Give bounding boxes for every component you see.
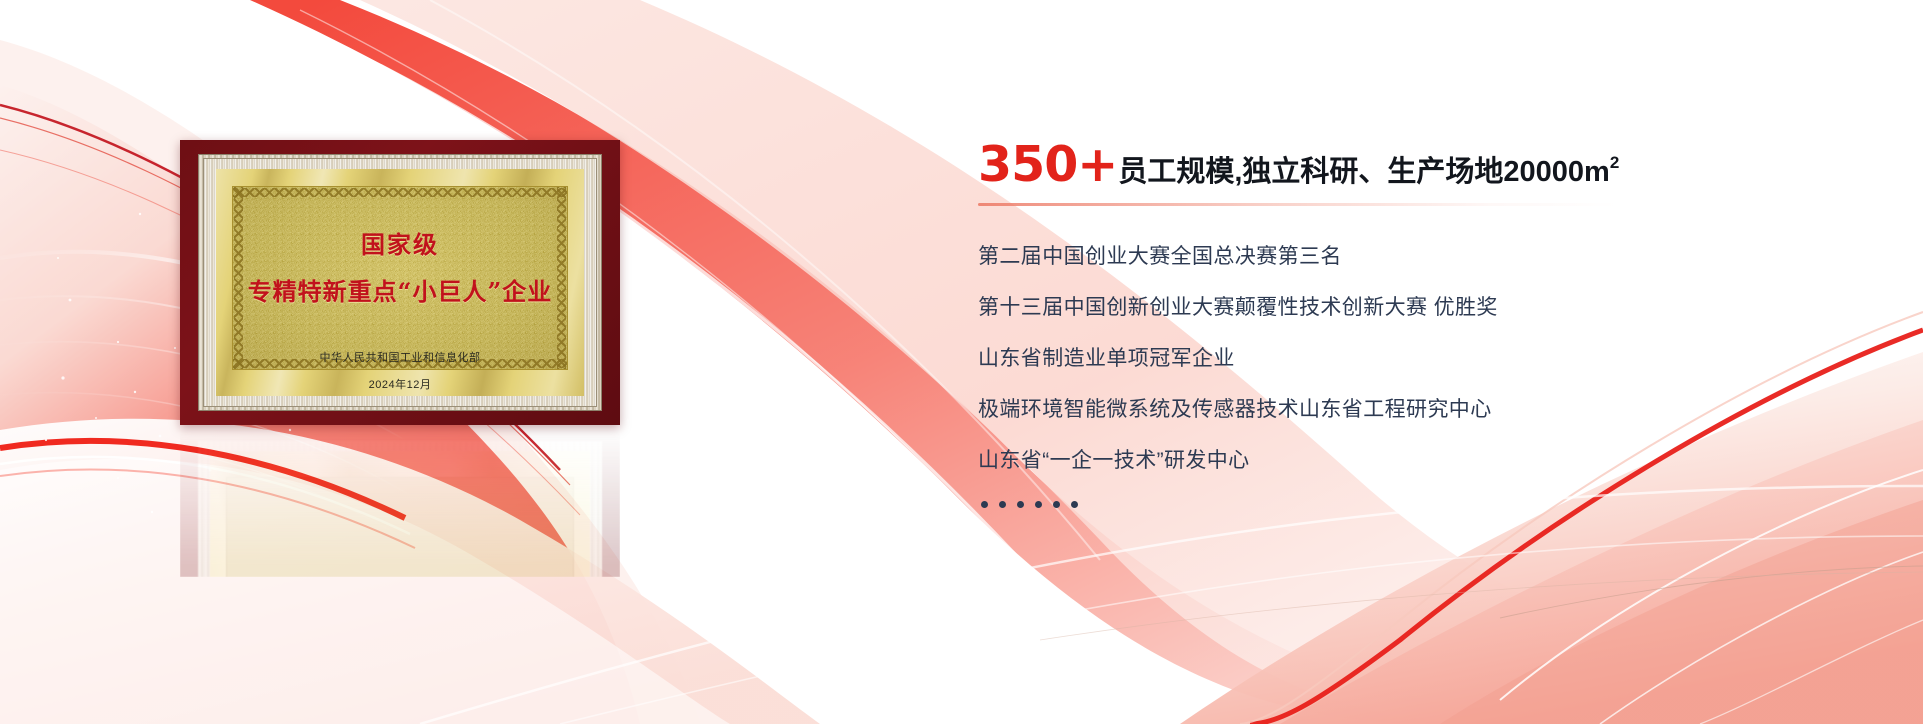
plaque-frame: 国家级 专精特新重点“小巨人”企业 中华人民共和国工业和信息化部 2024年12… xyxy=(180,140,620,425)
plaque-silver-border-inner: 国家级 专精特新重点“小巨人”企业 中华人民共和国工业和信息化部 2024年12… xyxy=(203,158,597,407)
headline: 350+ 员工规模,独立科研、生产场地20000m 2 xyxy=(978,140,1738,189)
award-plaque: 国家级 专精特新重点“小巨人”企业 中华人民共和国工业和信息化部 2024年12… xyxy=(180,140,620,425)
list-item: 极端环境智能微系统及传感器技术山东省工程研究中心 xyxy=(978,399,1738,420)
headline-divider xyxy=(978,203,1618,206)
ellipsis-dot xyxy=(1035,501,1042,508)
headline-number: 350+ xyxy=(978,140,1117,189)
list-item: 第二届中国创业大赛全国总决赛第三名 xyxy=(978,246,1738,267)
plaque-silver-border: 国家级 专精特新重点“小巨人”企业 中华人民共和国工业和信息化部 2024年12… xyxy=(198,154,602,411)
ellipsis-dot xyxy=(981,501,988,508)
content-column: 350+ 员工规模,独立科研、生产场地20000m 2 第二届中国创业大赛全国总… xyxy=(978,140,1738,508)
ellipsis-dot xyxy=(1017,501,1024,508)
achievement-list: 第二届中国创业大赛全国总决赛第三名 第十三届中国创新创业大赛颠覆性技术创新大赛 … xyxy=(978,246,1738,508)
plaque-date: 2024年12月 xyxy=(369,376,432,392)
plaque-reflection xyxy=(180,427,620,577)
list-item: 山东省“一企一技术”研发中心 xyxy=(978,450,1738,471)
plaque-title-line1: 国家级 xyxy=(361,225,439,260)
plaque-issuer: 中华人民共和国工业和信息化部 xyxy=(320,349,481,365)
promo-banner: 国家级 专精特新重点“小巨人”企业 中华人民共和国工业和信息化部 2024年12… xyxy=(0,0,1923,724)
ellipsis-dot xyxy=(999,501,1006,508)
plaque-gold-surface: 国家级 专精特新重点“小巨人”企业 中华人民共和国工业和信息化部 2024年12… xyxy=(216,169,584,396)
headline-superscript: 2 xyxy=(1610,153,1619,173)
ellipsis-indicator xyxy=(981,501,1738,508)
ellipsis-dot xyxy=(1071,501,1078,508)
plaque-title-line2: 专精特新重点“小巨人”企业 xyxy=(248,272,553,307)
list-item: 第十三届中国创新创业大赛颠覆性技术创新大赛 优胜奖 xyxy=(978,297,1738,318)
list-item: 山东省制造业单项冠军企业 xyxy=(978,348,1738,369)
plaque-text-block: 国家级 专精特新重点“小巨人”企业 中华人民共和国工业和信息化部 2024年12… xyxy=(216,169,584,396)
headline-text: 员工规模,独立科研、生产场地20000m xyxy=(1118,158,1610,187)
ellipsis-dot xyxy=(1053,501,1060,508)
